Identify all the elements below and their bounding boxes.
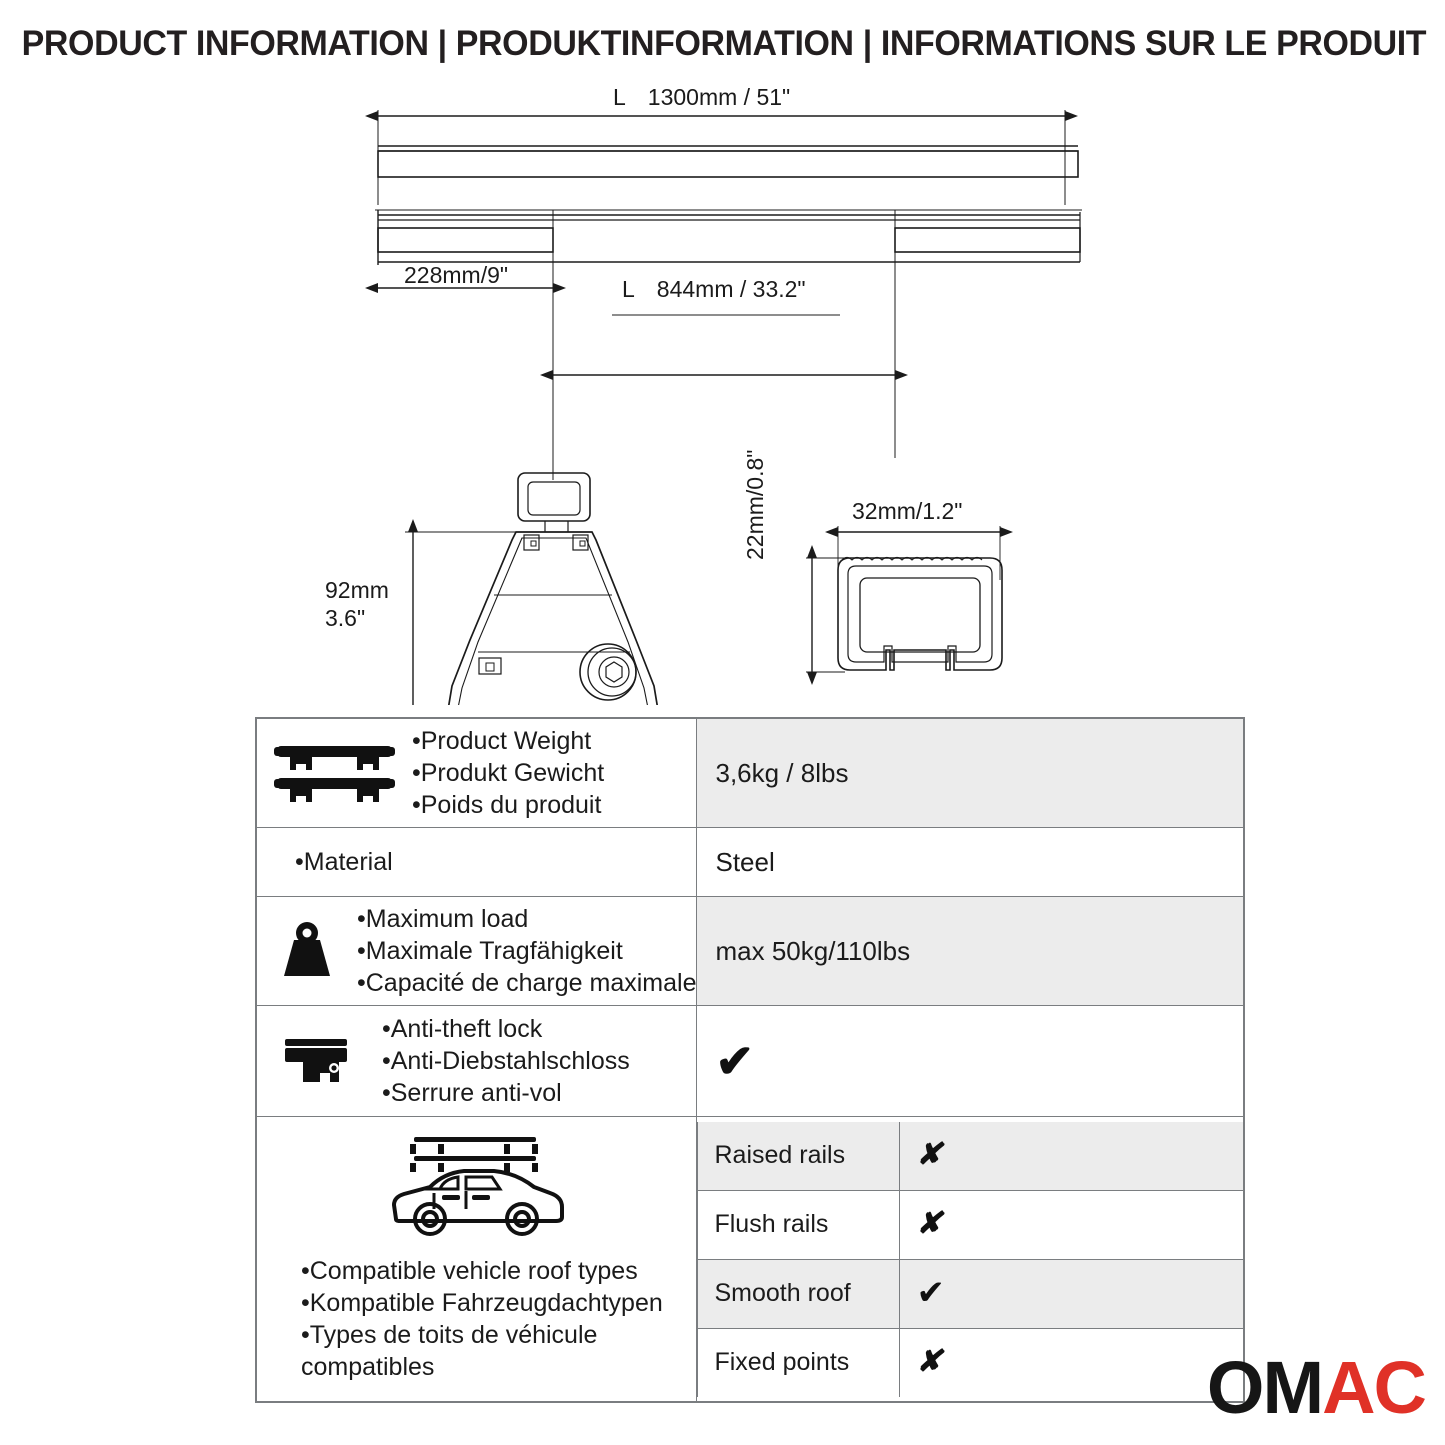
product-weight-labels: •Product Weight •Produkt Gewicht •Poids … (412, 725, 604, 821)
material-label-cell: •Material (256, 828, 697, 897)
roof-type-row: Smooth roof ✔ (698, 1259, 1243, 1328)
weight-icon (257, 920, 357, 982)
label-line: •Anti-theft lock (382, 1013, 630, 1045)
label-line: •Kompatible Fahrzeugdachtypen (301, 1287, 696, 1319)
roof-type-name: Smooth roof (698, 1259, 900, 1328)
label-line: •Anti-Diebstahlschloss (382, 1045, 630, 1077)
maximum-load-value-cell: max 50kg/110lbs (697, 897, 1244, 1006)
roof-type-name: Fixed points (698, 1328, 900, 1397)
roof-type-name: Flush rails (698, 1190, 900, 1259)
roof-types-table: Raised rails ✘ Flush rails ✘ (697, 1122, 1243, 1397)
foot-height-dimension-label: 92mm 3.6" (325, 576, 389, 632)
label-line: •Compatible vehicle roof types (301, 1255, 696, 1287)
label-line: compatibles (301, 1351, 696, 1383)
material-labels: •Material (295, 846, 393, 878)
logo-text-red: AC (1322, 1346, 1425, 1429)
check-icon: ✔ (715, 1035, 754, 1087)
label-line: •Product Weight (412, 725, 604, 757)
roof-type-name: Raised rails (698, 1122, 900, 1191)
anti-theft-lock-value-cell: ✔ (697, 1006, 1244, 1117)
label-line: •Poids du produit (412, 789, 604, 821)
check-icon: ✔ (916, 1274, 945, 1312)
anti-theft-lock-label-cell: •Anti-theft lock •Anti-Diebstahlschloss … (256, 1006, 697, 1117)
table-row: •Material Steel (256, 828, 1244, 897)
roof-type-row: Flush rails ✘ (698, 1190, 1243, 1259)
profile-width-dimension-label: 32mm/1.2" (852, 498, 962, 525)
roof-type-row: Raised rails ✘ (698, 1122, 1243, 1191)
label-line: •Capacité de charge maximale (357, 967, 696, 999)
label-line: •Types de toits de véhicule (301, 1319, 696, 1351)
dim-value: 1300mm / 51" (648, 84, 790, 110)
roof-type-mark-cell: ✘ (900, 1328, 1243, 1397)
foot-offset-dimension-label: 228mm/9" (404, 262, 508, 289)
table-row: •Anti-theft lock •Anti-Diebstahlschloss … (256, 1006, 1244, 1117)
two-crossbars-icon (257, 742, 412, 804)
table-row: •Maximum load •Maximale Tragfähigkeit •C… (256, 897, 1244, 1006)
page-title: PRODUCT INFORMATION | PRODUKTINFORMATION… (22, 24, 1424, 64)
material-value-cell: Steel (697, 828, 1244, 897)
roof-types-cell: Raised rails ✘ Flush rails ✘ (697, 1117, 1244, 1403)
roof-type-mark-cell: ✔ (900, 1259, 1243, 1328)
label-line: •Maximale Tragfähigkeit (357, 935, 696, 967)
roof-type-row: Fixed points ✘ (698, 1328, 1243, 1397)
label-line: •Maximum load (357, 903, 696, 935)
foot-height-mm: 92mm (325, 576, 389, 604)
product-weight-value-cell: 3,6kg / 8lbs (697, 718, 1244, 828)
dim-prefix-L: L (613, 84, 626, 110)
profile-height-dimension-label: 22mm/0.8" (742, 450, 769, 560)
logo-text-black: OM (1207, 1346, 1322, 1429)
label-line: •Produkt Gewicht (412, 757, 604, 789)
maximum-load-labels: •Maximum load •Maximale Tragfähigkeit •C… (357, 903, 696, 999)
technical-drawing: L1300mm / 51" 228mm/9" L844mm / 33.2" 92… (0, 80, 1445, 705)
car-with-roof-bars-icon (257, 1131, 696, 1241)
table-row: •Product Weight •Produkt Gewicht •Poids … (256, 718, 1244, 828)
specification-table: •Product Weight •Produkt Gewicht •Poids … (255, 717, 1245, 1403)
compatibility-labels: •Compatible vehicle roof types •Kompatib… (257, 1255, 696, 1383)
lock-icon (257, 1035, 382, 1087)
cross-icon: ✘ (916, 1138, 941, 1171)
table-row: •Compatible vehicle roof types •Kompatib… (256, 1117, 1244, 1403)
maximum-load-label-cell: •Maximum load •Maximale Tragfähigkeit •C… (256, 897, 697, 1006)
foot-height-in: 3.6" (325, 604, 389, 632)
cross-icon: ✘ (916, 1345, 941, 1378)
roof-type-mark-cell: ✘ (900, 1190, 1243, 1259)
dim-prefix-L: L (622, 276, 635, 302)
compatibility-label-cell: •Compatible vehicle roof types •Kompatib… (256, 1117, 697, 1403)
span-between-feet-dimension-label: L844mm / 33.2" (622, 276, 806, 303)
product-weight-label-cell: •Product Weight •Produkt Gewicht •Poids … (256, 718, 697, 828)
label-line: •Serrure anti-vol (382, 1077, 630, 1109)
drawing-svg (0, 80, 1445, 705)
cross-icon: ✘ (916, 1207, 941, 1240)
roof-type-mark-cell: ✘ (900, 1122, 1243, 1191)
dim-value: 844mm / 33.2" (657, 276, 806, 302)
anti-theft-lock-labels: •Anti-theft lock •Anti-Diebstahlschloss … (382, 1013, 630, 1109)
label-line: •Material (295, 846, 393, 878)
omac-logo: OMAC (1207, 1351, 1425, 1425)
bar-length-dimension-label: L1300mm / 51" (613, 84, 790, 111)
